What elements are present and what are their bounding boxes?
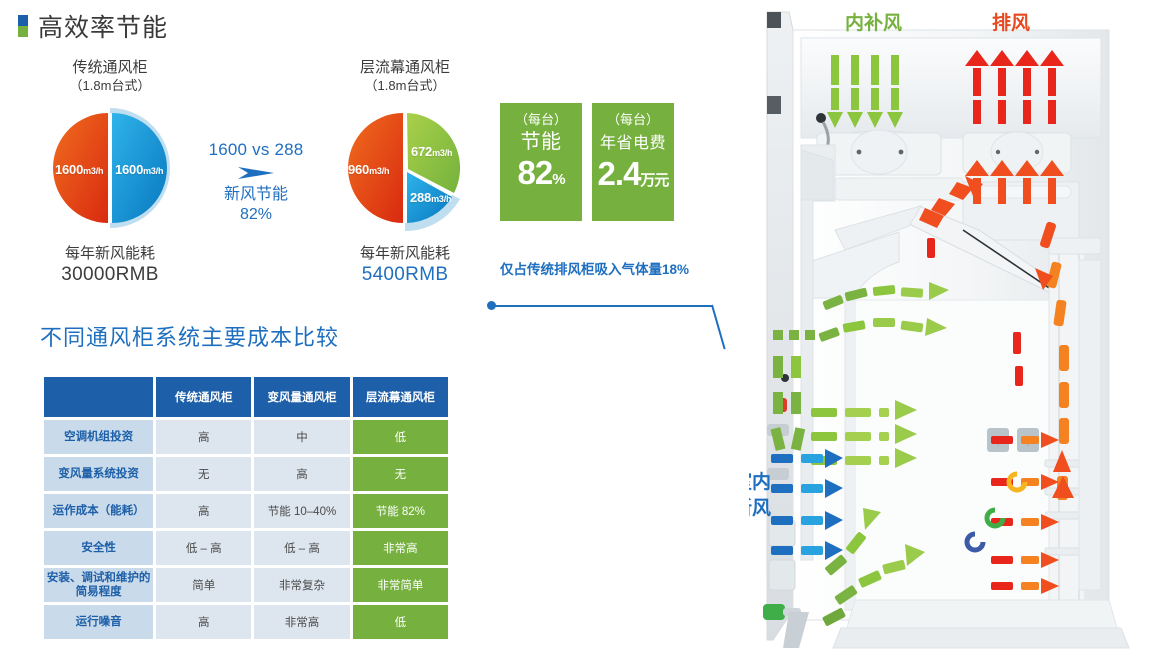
badge-number-1: 82%	[517, 155, 564, 198]
table-cell: 非常复杂	[254, 568, 349, 602]
table-row-label: 变风量系统投资	[44, 457, 153, 491]
callout-diagonal-line	[711, 305, 725, 350]
table-row-label: 安装、调试和维护的简易程度	[44, 568, 153, 602]
pie-title-traditional: 传统通风柜	[5, 58, 215, 77]
fume-hood-diagram: ⚘ ⚘	[749, 0, 1149, 660]
table-header-vav: 变风量通风柜	[254, 377, 349, 417]
pie-title-laminar: 层流幕通风柜	[300, 58, 510, 77]
badge-middle-1: 节能	[521, 129, 562, 155]
table-row-label: 安全性	[44, 531, 153, 565]
label-room-air-line1: 室内	[749, 470, 771, 496]
badge-caption-1: （每台）	[515, 112, 567, 128]
pie-subtitle-traditional: （1.8m台式）	[5, 77, 215, 95]
table-header-row: 传统通风柜 变风量通风柜 层流幕通风柜	[44, 377, 448, 417]
comparison-line2: 82%	[196, 205, 316, 225]
table-header-laminar: 层流幕通风柜	[353, 377, 448, 417]
pie-footer-value-traditional: 30000RMB	[5, 264, 215, 285]
table-cell: 高	[254, 457, 349, 491]
table-cell: 简单	[156, 568, 251, 602]
table-row: 安装、调试和维护的简易程度 简单 非常复杂 非常简单	[44, 568, 448, 602]
pie-chart-traditional: 1600m3/h 1600m3/h	[45, 103, 175, 233]
cost-comparison-table: 传统通风柜 变风量通风柜 层流幕通风柜 空调机组投资 高 中 低 变风量系统投资…	[41, 374, 451, 642]
table-cell-highlight: 无	[353, 457, 448, 491]
pie-block-laminar: 层流幕通风柜 （1.8m台式）	[300, 58, 510, 285]
table-cell: 高	[156, 494, 251, 528]
table-cell: 中	[254, 420, 349, 454]
label-exhaust-air: 排风	[992, 8, 1030, 35]
comparison-headline: 1600 vs 288	[196, 140, 316, 160]
badge-middle-2: 年省电费	[600, 132, 666, 156]
table-cell: 无	[156, 457, 251, 491]
pie-slice-label-right-2: 672m3/h	[411, 144, 452, 159]
table-cell-highlight: 非常简单	[353, 568, 448, 602]
table-cell: 高	[156, 420, 251, 454]
label-supply-air: 内补风	[845, 8, 902, 35]
pie-footer-label-traditional: 每年新风能耗	[5, 243, 215, 264]
pie-footer-laminar: 每年新风能耗 5400RMB	[300, 243, 510, 285]
table-row-label: 运作成本（能耗）	[44, 494, 153, 528]
pie-footer-traditional: 每年新风能耗 30000RMB	[5, 243, 215, 285]
table-cell: 低 – 高	[156, 531, 251, 565]
callout-horizontal-line	[495, 305, 713, 307]
fume-hood-illustration: ⚘ ⚘	[749, 0, 1149, 660]
table-header-blank	[44, 377, 153, 417]
table-row: 运作成本（能耗） 高 节能 10–40% 节能 82%	[44, 494, 448, 528]
right-arrow-icon	[236, 165, 276, 181]
badge-number-2: 2.4万元	[598, 156, 669, 199]
badge-caption-2: （每台）	[607, 112, 659, 128]
pie-subtitle-laminar: （1.8m台式）	[300, 77, 510, 95]
pie-slice-label-right-3: 288m3/h	[410, 190, 451, 205]
pie-block-traditional: 传统通风柜 （1.8m台式） 1600m3/h	[5, 58, 215, 285]
page-title: 高效率节能	[18, 8, 168, 44]
callout-text: 仅占传统排风柜吸入气体量18%	[500, 258, 737, 278]
section-heading: 不同通风柜系统主要成本比较	[40, 320, 339, 352]
pie-footer-label-laminar: 每年新风能耗	[300, 243, 510, 264]
pie-footer-value-laminar: 5400RMB	[300, 264, 510, 285]
table-row: 空调机组投资 高 中 低	[44, 420, 448, 454]
table-cell-highlight: 低	[353, 605, 448, 639]
table-cell: 非常高	[254, 605, 349, 639]
table-cell-highlight: 节能 82%	[353, 494, 448, 528]
table-cell-highlight: 低	[353, 420, 448, 454]
label-room-air: 室内 新风	[749, 470, 771, 522]
comparison-middle: 1600 vs 288 新风节能 82%	[196, 140, 316, 225]
table-row: 安全性 低 – 高 低 – 高 非常高	[44, 531, 448, 565]
pie-chart-laminar: 960m3/h 672m3/h 288m3/h	[340, 103, 470, 233]
table-header-traditional: 传统通风柜	[156, 377, 251, 417]
table-row: 变风量系统投资 无 高 无	[44, 457, 448, 491]
pie-slice-label-left-1: 1600m3/h	[55, 162, 103, 177]
callout-leader-line	[487, 281, 737, 327]
label-room-air-line2: 新风	[749, 496, 771, 522]
page-title-text: 高效率节能	[38, 8, 168, 44]
table-row: 运行噪音 高 非常高 低	[44, 605, 448, 639]
comparison-line1: 新风节能	[196, 185, 316, 205]
pie-slice-label-right-1: 960m3/h	[348, 162, 389, 177]
table-cell-highlight: 非常高	[353, 531, 448, 565]
table-cell: 节能 10–40%	[254, 494, 349, 528]
pie-slice-label-left-2: 1600m3/h	[115, 162, 163, 177]
table-row-label: 运行噪音	[44, 605, 153, 639]
badge-energy-saving: （每台） 节能 82%	[500, 103, 582, 221]
infographic-page: 高效率节能 传统通风柜 （1.8m台式）	[0, 0, 1149, 660]
title-marker-icon	[18, 15, 28, 37]
table-cell: 低 – 高	[254, 531, 349, 565]
badge-group: （每台） 节能 82% （每台） 年省电费 2.4万元	[500, 103, 674, 221]
table-row-label: 空调机组投资	[44, 420, 153, 454]
table-cell: 高	[156, 605, 251, 639]
callout-annotation: 仅占传统排风柜吸入气体量18%	[487, 258, 737, 327]
badge-annual-savings: （每台） 年省电费 2.4万元	[592, 103, 674, 221]
